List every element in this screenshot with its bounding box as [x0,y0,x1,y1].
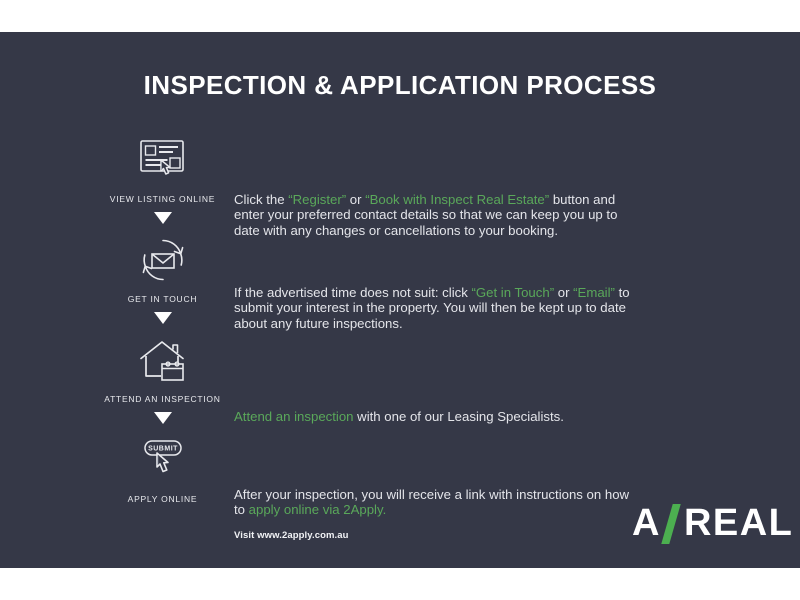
envelope-refresh-icon [70,232,255,288]
step-2-description: If the advertised time does not suit: cl… [234,285,634,331]
desc-highlight: apply online via 2Apply. [249,502,387,517]
page-title: INSPECTION & APPLICATION PROCESS [0,70,800,101]
step-3-description: Attend an inspection with one of our Lea… [234,409,634,424]
step-2-label: GET IN TOUCH [70,294,255,304]
submit-button-cursor-icon: SUBMIT [70,432,255,488]
desc-seg: with one of our Leasing Specialists. [354,409,564,424]
house-calendar-icon [70,332,255,388]
apply-url-note: Visit www.2apply.com.au [234,530,634,541]
step-3-label: ATTEND AN INSPECTION [70,394,255,404]
down-triangle-icon [154,212,172,224]
down-triangle-icon [154,412,172,424]
desc-seg: Click the [234,192,288,207]
slide-canvas: INSPECTION & APPLICATION PROCESS [0,32,800,568]
step-1-label: VIEW LISTING ONLINE [70,194,255,204]
desc-highlight: “Email” [573,285,615,300]
steps-column: VIEW LISTING ONLINE [70,132,255,504]
slide-frame: INSPECTION & APPLICATION PROCESS [0,0,800,600]
desc-seg: or [554,285,573,300]
logo-right-text: REAL [684,502,793,545]
connector-2 [70,304,255,332]
listing-window-cursor-icon [70,132,255,188]
submit-icon-text: SUBMIT [148,446,178,453]
step-4: SUBMIT APPLY ONLINE [70,432,255,504]
step-1: VIEW LISTING ONLINE [70,132,255,204]
brand-logo: A REAL [632,502,793,545]
down-triangle-icon [154,312,172,324]
desc-highlight: Attend an inspection [234,409,354,424]
connector-3 [70,404,255,432]
desc-highlight: “Get in Touch” [472,285,555,300]
connector-1 [70,204,255,232]
step-3: ATTEND AN INSPECTION [70,332,255,404]
desc-seg: If the advertised time does not suit: cl… [234,285,472,300]
logo-left-text: A [632,502,661,545]
step-1-description: Click the “Register” or “Book with Inspe… [234,192,634,238]
step-4-description-group: After your inspection, you will receive … [234,487,634,541]
step-4-description: After your inspection, you will receive … [234,487,634,518]
step-2: GET IN TOUCH [70,232,255,304]
desc-highlight: “Book with Inspect Real Estate” [365,192,549,207]
desc-seg: or [346,192,365,207]
step-4-label: APPLY ONLINE [70,494,255,504]
logo-slash-icon [661,504,680,544]
desc-highlight: “Register” [288,192,346,207]
